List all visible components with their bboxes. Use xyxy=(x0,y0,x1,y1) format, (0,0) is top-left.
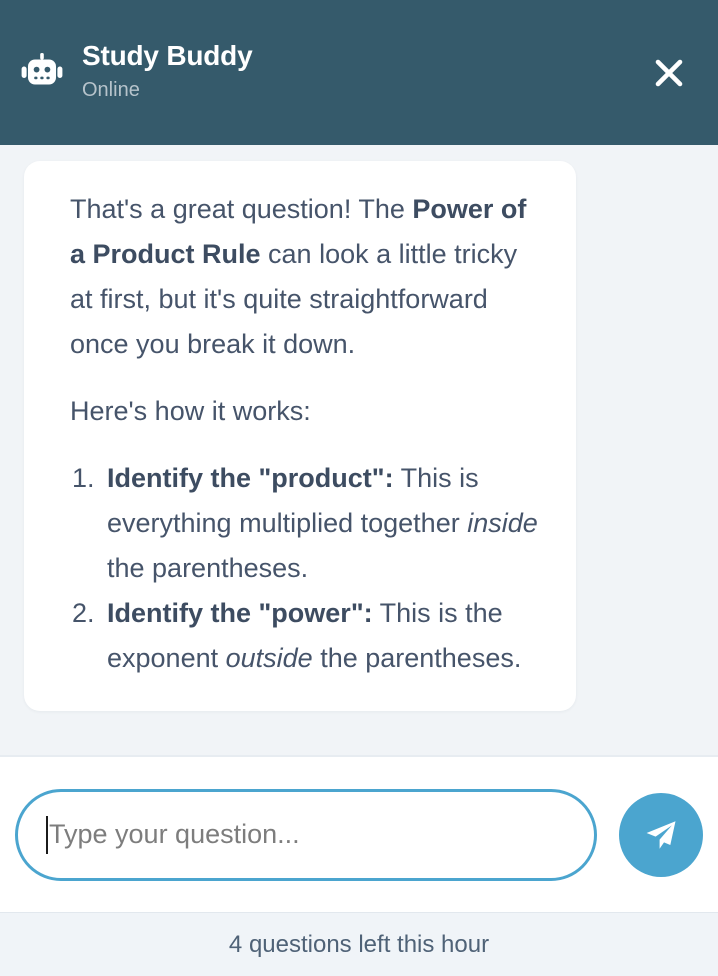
message-row: That's a great question! The Power of a … xyxy=(0,161,718,711)
composer-bar xyxy=(0,757,718,912)
text-run: the parentheses. xyxy=(313,643,522,673)
message-paragraph-1: That's a great question! The Power of a … xyxy=(70,187,544,367)
quota-text: 4 questions left this hour xyxy=(229,931,489,959)
header-titles: Study Buddy Online xyxy=(82,41,646,103)
search-input[interactable] xyxy=(49,792,566,878)
text-caret xyxy=(46,816,48,854)
status-badge: Online xyxy=(82,78,646,102)
close-icon[interactable] xyxy=(646,50,692,96)
list-item: Identify the "power": This is the expone… xyxy=(102,591,544,681)
message-ordered-list: Identify the "product": This is everythi… xyxy=(70,456,544,681)
text-run-italic: inside xyxy=(467,508,538,538)
text-run-bold: Identify the "power": xyxy=(107,598,373,628)
chat-header: Study Buddy Online xyxy=(0,0,718,145)
text-run-italic: outside xyxy=(226,643,313,673)
text-run: the parentheses. xyxy=(107,553,308,583)
bot-message-bubble: That's a great question! The Power of a … xyxy=(24,161,576,711)
send-paper-plane-icon xyxy=(641,815,681,855)
text-run-bold: Identify the "product": xyxy=(107,463,394,493)
messages-scroll-area[interactable]: That's a great question! The Power of a … xyxy=(0,145,718,757)
question-input-wrapper[interactable] xyxy=(15,789,597,881)
send-button[interactable] xyxy=(619,793,703,877)
scroll-edge-divider xyxy=(0,755,718,757)
text-run: That's a great question! The xyxy=(70,194,412,224)
message-paragraph-2: Here's how it works: xyxy=(70,389,544,434)
page-title: Study Buddy xyxy=(82,41,646,72)
text-run: Here's how it works: xyxy=(70,396,311,426)
robot-icon xyxy=(18,49,66,97)
chat-widget: Study Buddy Online That's a great questi… xyxy=(0,0,718,976)
list-item: Identify the "product": This is everythi… xyxy=(102,456,544,591)
quota-footer: 4 questions left this hour xyxy=(0,912,718,976)
